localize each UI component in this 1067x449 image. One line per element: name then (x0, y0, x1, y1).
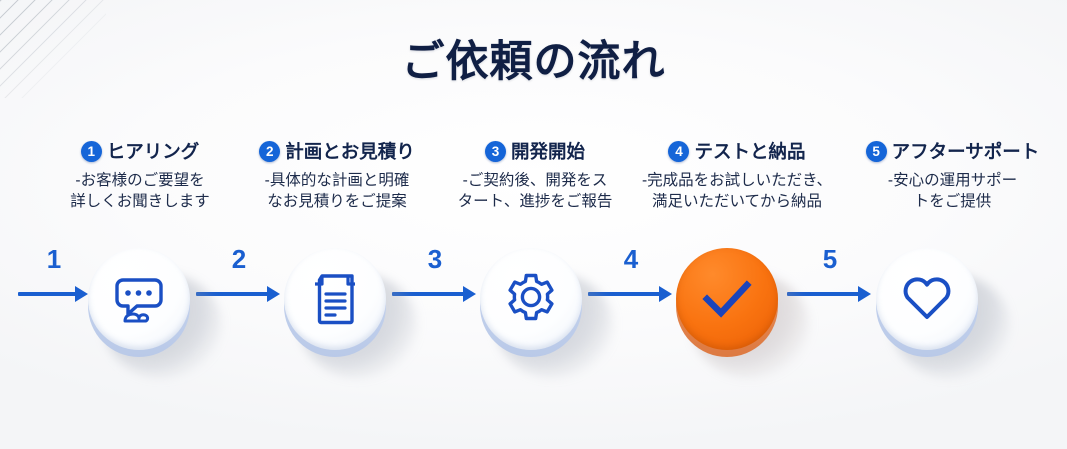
step-title-5: アフターサポート (892, 138, 1040, 164)
step-badge-3: 3 (485, 141, 506, 162)
check-icon (697, 269, 757, 329)
step-badge-5: 5 (866, 141, 887, 162)
step-node-4[interactable] (676, 248, 778, 350)
step-description-1: -お客様のご要望を 詳しくお聞きします (40, 171, 240, 212)
node-face-1 (88, 248, 190, 350)
step-text-1: 1 ヒアリング -お客様のご要望を 詳しくお聞きします (40, 138, 240, 212)
step-title-1: ヒアリング (107, 138, 200, 164)
page-title: ご依頼の流れ (0, 27, 1067, 89)
step-text-3: 3 開発開始 -ご契約後、開発をス タート、進捗をご報告 (430, 138, 640, 212)
step-badge-1: 1 (81, 141, 102, 162)
heart-icon (898, 270, 956, 328)
step-labels-row: 1 ヒアリング -お客様のご要望を 詳しくお聞きします 2 計画とお見積り -具… (0, 138, 1067, 230)
infographic-canvas: ご依頼の流れ 1 ヒアリング -お客様のご要望を 詳しくお聞きします 2 計画と… (0, 0, 1067, 449)
step-text-4: 4 テストと納品 -完成品をお試しいただき、 満足いただいてから納品 (622, 138, 852, 212)
gear-icon (502, 270, 560, 328)
node-face-5 (876, 248, 978, 350)
step-node-1[interactable] (88, 248, 190, 350)
step-heading-4: 4 テストと納品 (622, 138, 852, 164)
step-text-2: 2 計画とお見積り -具体的な計画と明確 なお見積りをご提案 (232, 138, 442, 212)
node-face-2 (284, 248, 386, 350)
step-title-2: 計画とお見積り (285, 138, 415, 164)
document-icon (308, 272, 362, 326)
step-description-2: -具体的な計画と明確 なお見積りをご提案 (232, 171, 442, 212)
step-description-4: -完成品をお試しいただき、 満足いただいてから納品 (622, 171, 852, 212)
step-heading-5: 5 アフターサポート (845, 138, 1060, 164)
step-node-5[interactable] (876, 248, 978, 350)
step-badge-2: 2 (259, 141, 280, 162)
step-heading-1: 1 ヒアリング (40, 138, 240, 164)
step-title-4: テストと納品 (694, 138, 805, 164)
speech-bubble-icon (111, 271, 167, 327)
step-description-3: -ご契約後、開発をス タート、進捗をご報告 (430, 171, 640, 212)
step-text-5: 5 アフターサポート -安心の運用サポー トをご提供 (845, 138, 1060, 212)
node-face-3 (480, 248, 582, 350)
step-badge-4: 4 (668, 141, 689, 162)
step-node-3[interactable] (480, 248, 582, 350)
node-face-4 (676, 248, 778, 350)
step-description-5: -安心の運用サポー トをご提供 (845, 171, 1060, 212)
step-heading-2: 2 計画とお見積り (232, 138, 442, 164)
step-icons-row (0, 240, 1067, 370)
step-heading-3: 3 開発開始 (430, 138, 640, 164)
step-node-2[interactable] (284, 248, 386, 350)
step-title-3: 開発開始 (511, 138, 585, 164)
